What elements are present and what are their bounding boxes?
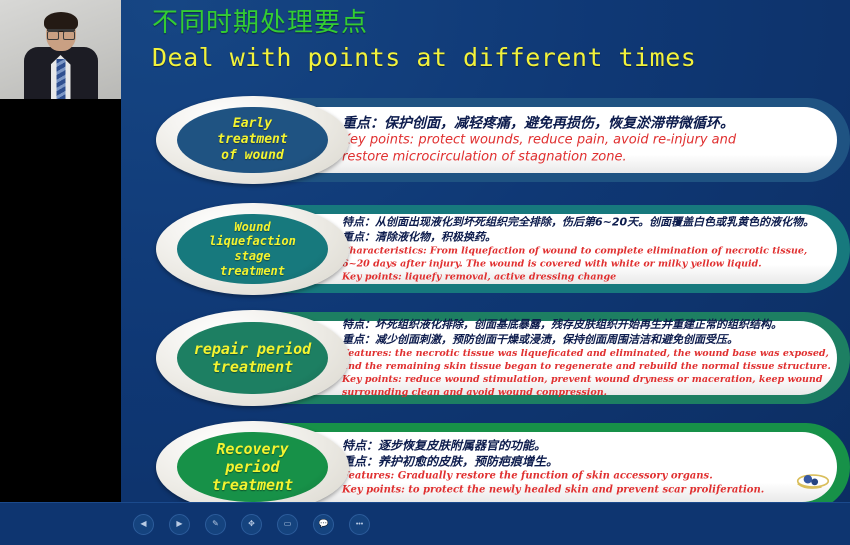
stage-description: 特点：逐步恢复皮肤附属器官的功能。重点：养护初愈的皮肤，预防疤痕增生。Featu… [342, 438, 790, 497]
stage-line-english: Key points: to protect the newly healed … [342, 483, 790, 497]
stage-line-english: Features: the necrotic tissue was liquef… [342, 347, 790, 360]
stage-line-chinese: 特点：坏死组织液化排除，创面基底暴露，残存皮肤组织开始再生并重建正常的组织结构。 [342, 317, 790, 332]
presentation-toolbar[interactable]: ◀▶✎✥▭💬••• [0, 502, 850, 545]
pen-annotate-icon[interactable]: ✎ [205, 514, 226, 535]
video-camera-icon[interactable]: ▭ [277, 514, 298, 535]
chat-bubble-icon[interactable]: 💬 [313, 514, 334, 535]
stage-line-english: and the remaining skin tissue began to r… [342, 360, 790, 373]
presenter-tie [56, 59, 65, 99]
stage-ellipse-core: Wound liquefaction stage treatment [177, 214, 328, 284]
stage-ellipse-ring: repair period treatment [156, 310, 349, 406]
stage-ellipse-ring: Recovery period treatment [156, 421, 349, 513]
laser-pointer-icon[interactable]: ✥ [241, 514, 262, 535]
previous-slide-icon[interactable]: ◀ [133, 514, 154, 535]
slide-title-area: 不同时期处理要点 Deal with points at different t… [152, 8, 842, 75]
stage-line-english: Key points: liquefy removal, active dres… [342, 271, 790, 284]
stage-line-english: 6~20 days after injury. The wound is cov… [342, 258, 790, 271]
stage-line-english: restore microcirculation of stagnation z… [342, 149, 790, 166]
stage-line-chinese: 重点：减少创面刺激，预防创面干燥或浸渍，保持创面周围洁洁和避免创面受压。 [342, 332, 790, 347]
stage-line-chinese: 重点：保护创面，减轻疼痛，避免再损伤，恢复淤滞带微循环。 [342, 115, 790, 133]
stage-ellipse-label: repair period treatment [188, 340, 317, 377]
stage-ellipse-label: Early treatment of wound [211, 116, 293, 164]
stage-line-chinese: 重点：养护初愈的皮肤，预防疤痕增生。 [342, 454, 790, 470]
stage-description: 特点：从创面出现液化到坏死组织完全排除，伤后第6~20天。创面覆盖白色或乳黄色的… [342, 215, 790, 284]
stage-line-chinese: 特点：逐步恢复皮肤附属器官的功能。 [342, 438, 790, 454]
stage-description: 重点：保护创面，减轻疼痛，避免再损伤，恢复淤滞带微循环。Key points: … [342, 115, 790, 166]
stage-ellipse-ring: Early treatment of wound [156, 96, 349, 184]
stage-ellipse-core: Early treatment of wound [177, 107, 328, 174]
page-title-english: Deal with points at different times [152, 41, 842, 75]
stage-ellipse-core: Recovery period treatment [177, 432, 328, 502]
stage-line-english: Features: Gradually restore the function… [342, 470, 790, 484]
presenter-video-thumbnail[interactable] [0, 0, 121, 99]
next-slide-icon[interactable]: ▶ [169, 514, 190, 535]
stage-line-chinese: 重点：清除液化物，积极换药。 [342, 230, 790, 245]
stage-ellipse-core: repair period treatment [177, 322, 328, 395]
more-options-icon[interactable]: ••• [349, 514, 370, 535]
stage-line-english: Key points: reduce wound stimulation, pr… [342, 373, 790, 386]
toolbar-icon-group: ◀▶✎✥▭💬••• [133, 514, 370, 535]
content-row: 特点：坏死组织液化排除，创面基底暴露，残存皮肤组织开始再生并重建正常的组织结构。… [150, 306, 850, 410]
content-row: 重点：保护创面，减轻疼痛，避免再损伤，恢复淤滞带微循环。Key points: … [150, 92, 850, 188]
stage-ellipse-ring: Wound liquefaction stage treatment [156, 203, 349, 295]
stage-ellipse: repair period treatment [150, 306, 355, 410]
stage-ellipse: Early treatment of wound [150, 92, 355, 188]
stage-line-english: surrounding clean and avoid wound compre… [342, 386, 790, 399]
stage-ellipse-label: Recovery period treatment [206, 440, 299, 495]
presenter-glasses-icon [47, 29, 75, 39]
content-row: 特点：从创面出现液化到坏死组织完全排除，伤后第6~20天。创面覆盖白色或乳黄色的… [150, 199, 850, 299]
page-title-chinese: 不同时期处理要点 [152, 8, 842, 38]
empty-video-panel [0, 99, 121, 503]
stage-ellipse: Wound liquefaction stage treatment [150, 199, 355, 299]
stage-ellipse-label: Wound liquefaction stage treatment [203, 220, 302, 279]
stage-description: 特点：坏死组织液化排除，创面基底暴露，残存皮肤组织开始再生并重建正常的组织结构。… [342, 317, 790, 399]
stage-line-chinese: 特点：从创面出现液化到坏死组织完全排除，伤后第6~20天。创面覆盖白色或乳黄色的… [342, 215, 790, 230]
stage-line-english: Characteristics: From liquefaction of wo… [342, 245, 790, 258]
stage-line-english: Key points: protect wounds, reduce pain,… [342, 133, 790, 150]
